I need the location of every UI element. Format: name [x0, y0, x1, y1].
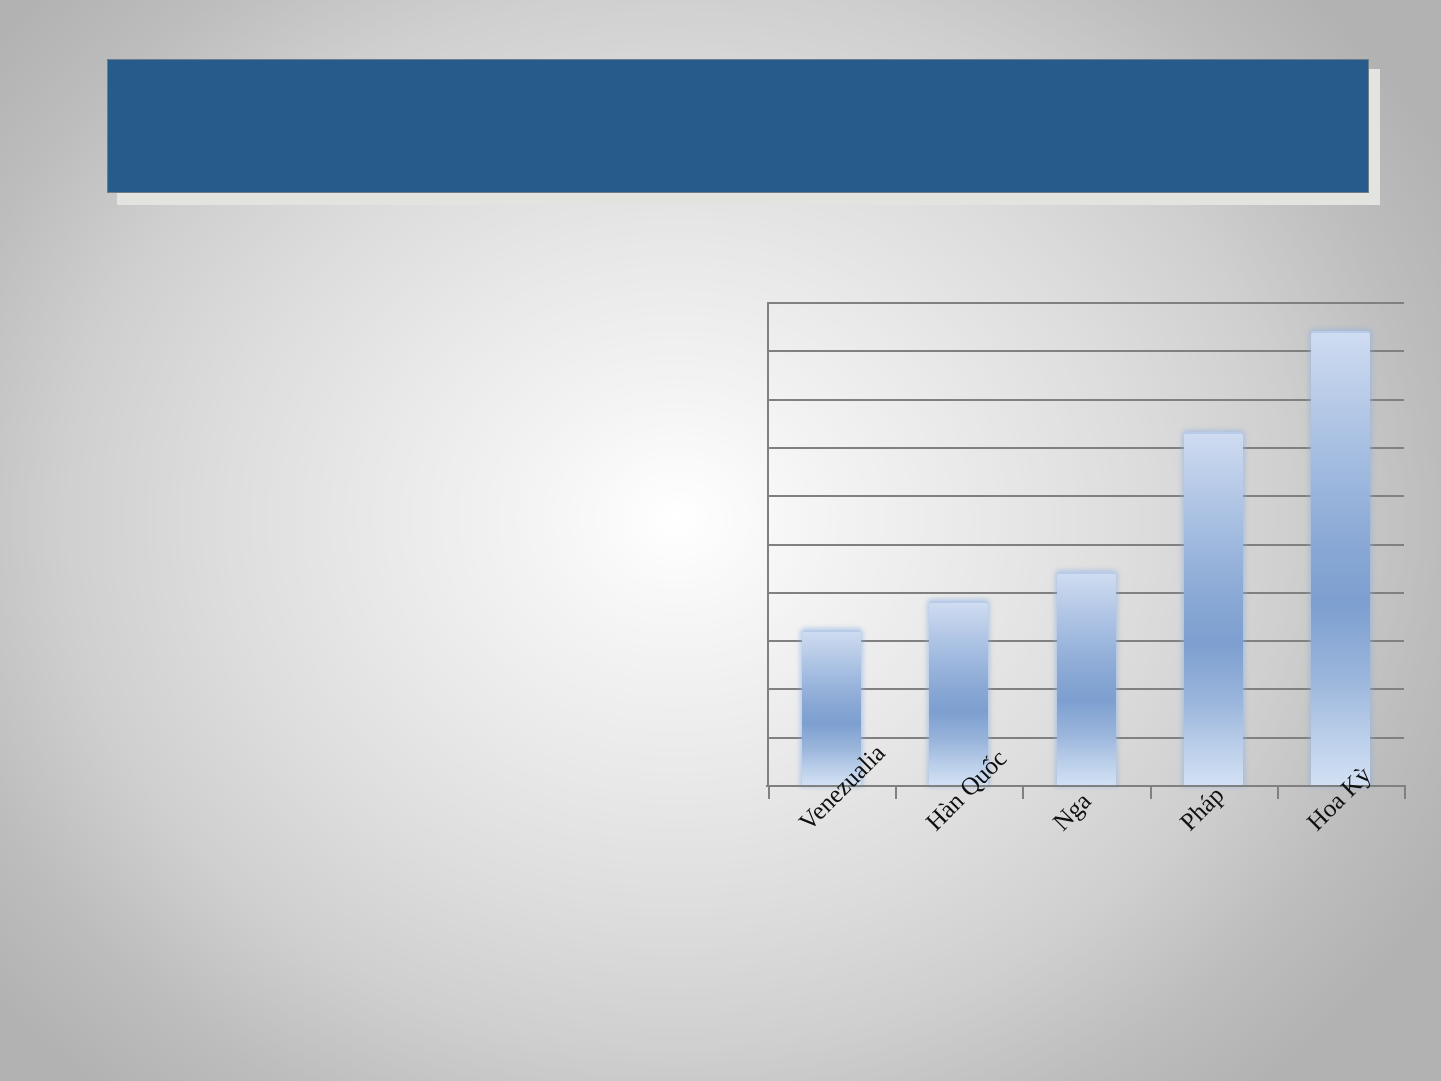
bar[interactable] — [1311, 331, 1370, 785]
bar[interactable] — [1057, 572, 1116, 785]
x-axis-tick — [1404, 785, 1406, 799]
x-axis-tick — [895, 785, 897, 799]
gridline — [768, 399, 1404, 401]
gridline — [768, 302, 1404, 304]
title-placeholder[interactable] — [107, 59, 1369, 193]
page-title — [132, 60, 1344, 192]
gridline — [768, 447, 1404, 449]
gridline — [768, 350, 1404, 352]
x-axis-category-label: Nga — [1048, 788, 1097, 837]
gridline — [768, 544, 1404, 546]
plot-area — [768, 302, 1404, 785]
bar-chart[interactable]: VenezualiaHàn QuốcNgaPhápHoa Kỳ — [766, 296, 1406, 796]
x-axis-tick — [768, 785, 770, 799]
x-axis-category-label: Pháp — [1175, 782, 1230, 837]
x-axis-tick — [1150, 785, 1152, 799]
bar[interactable] — [1184, 432, 1243, 785]
gridline — [768, 495, 1404, 497]
x-axis-tick — [1277, 785, 1279, 799]
y-axis-line — [767, 302, 769, 786]
slide-canvas: VenezualiaHàn QuốcNgaPhápHoa Kỳ — [0, 0, 1441, 1081]
x-axis-tick — [1022, 785, 1024, 799]
